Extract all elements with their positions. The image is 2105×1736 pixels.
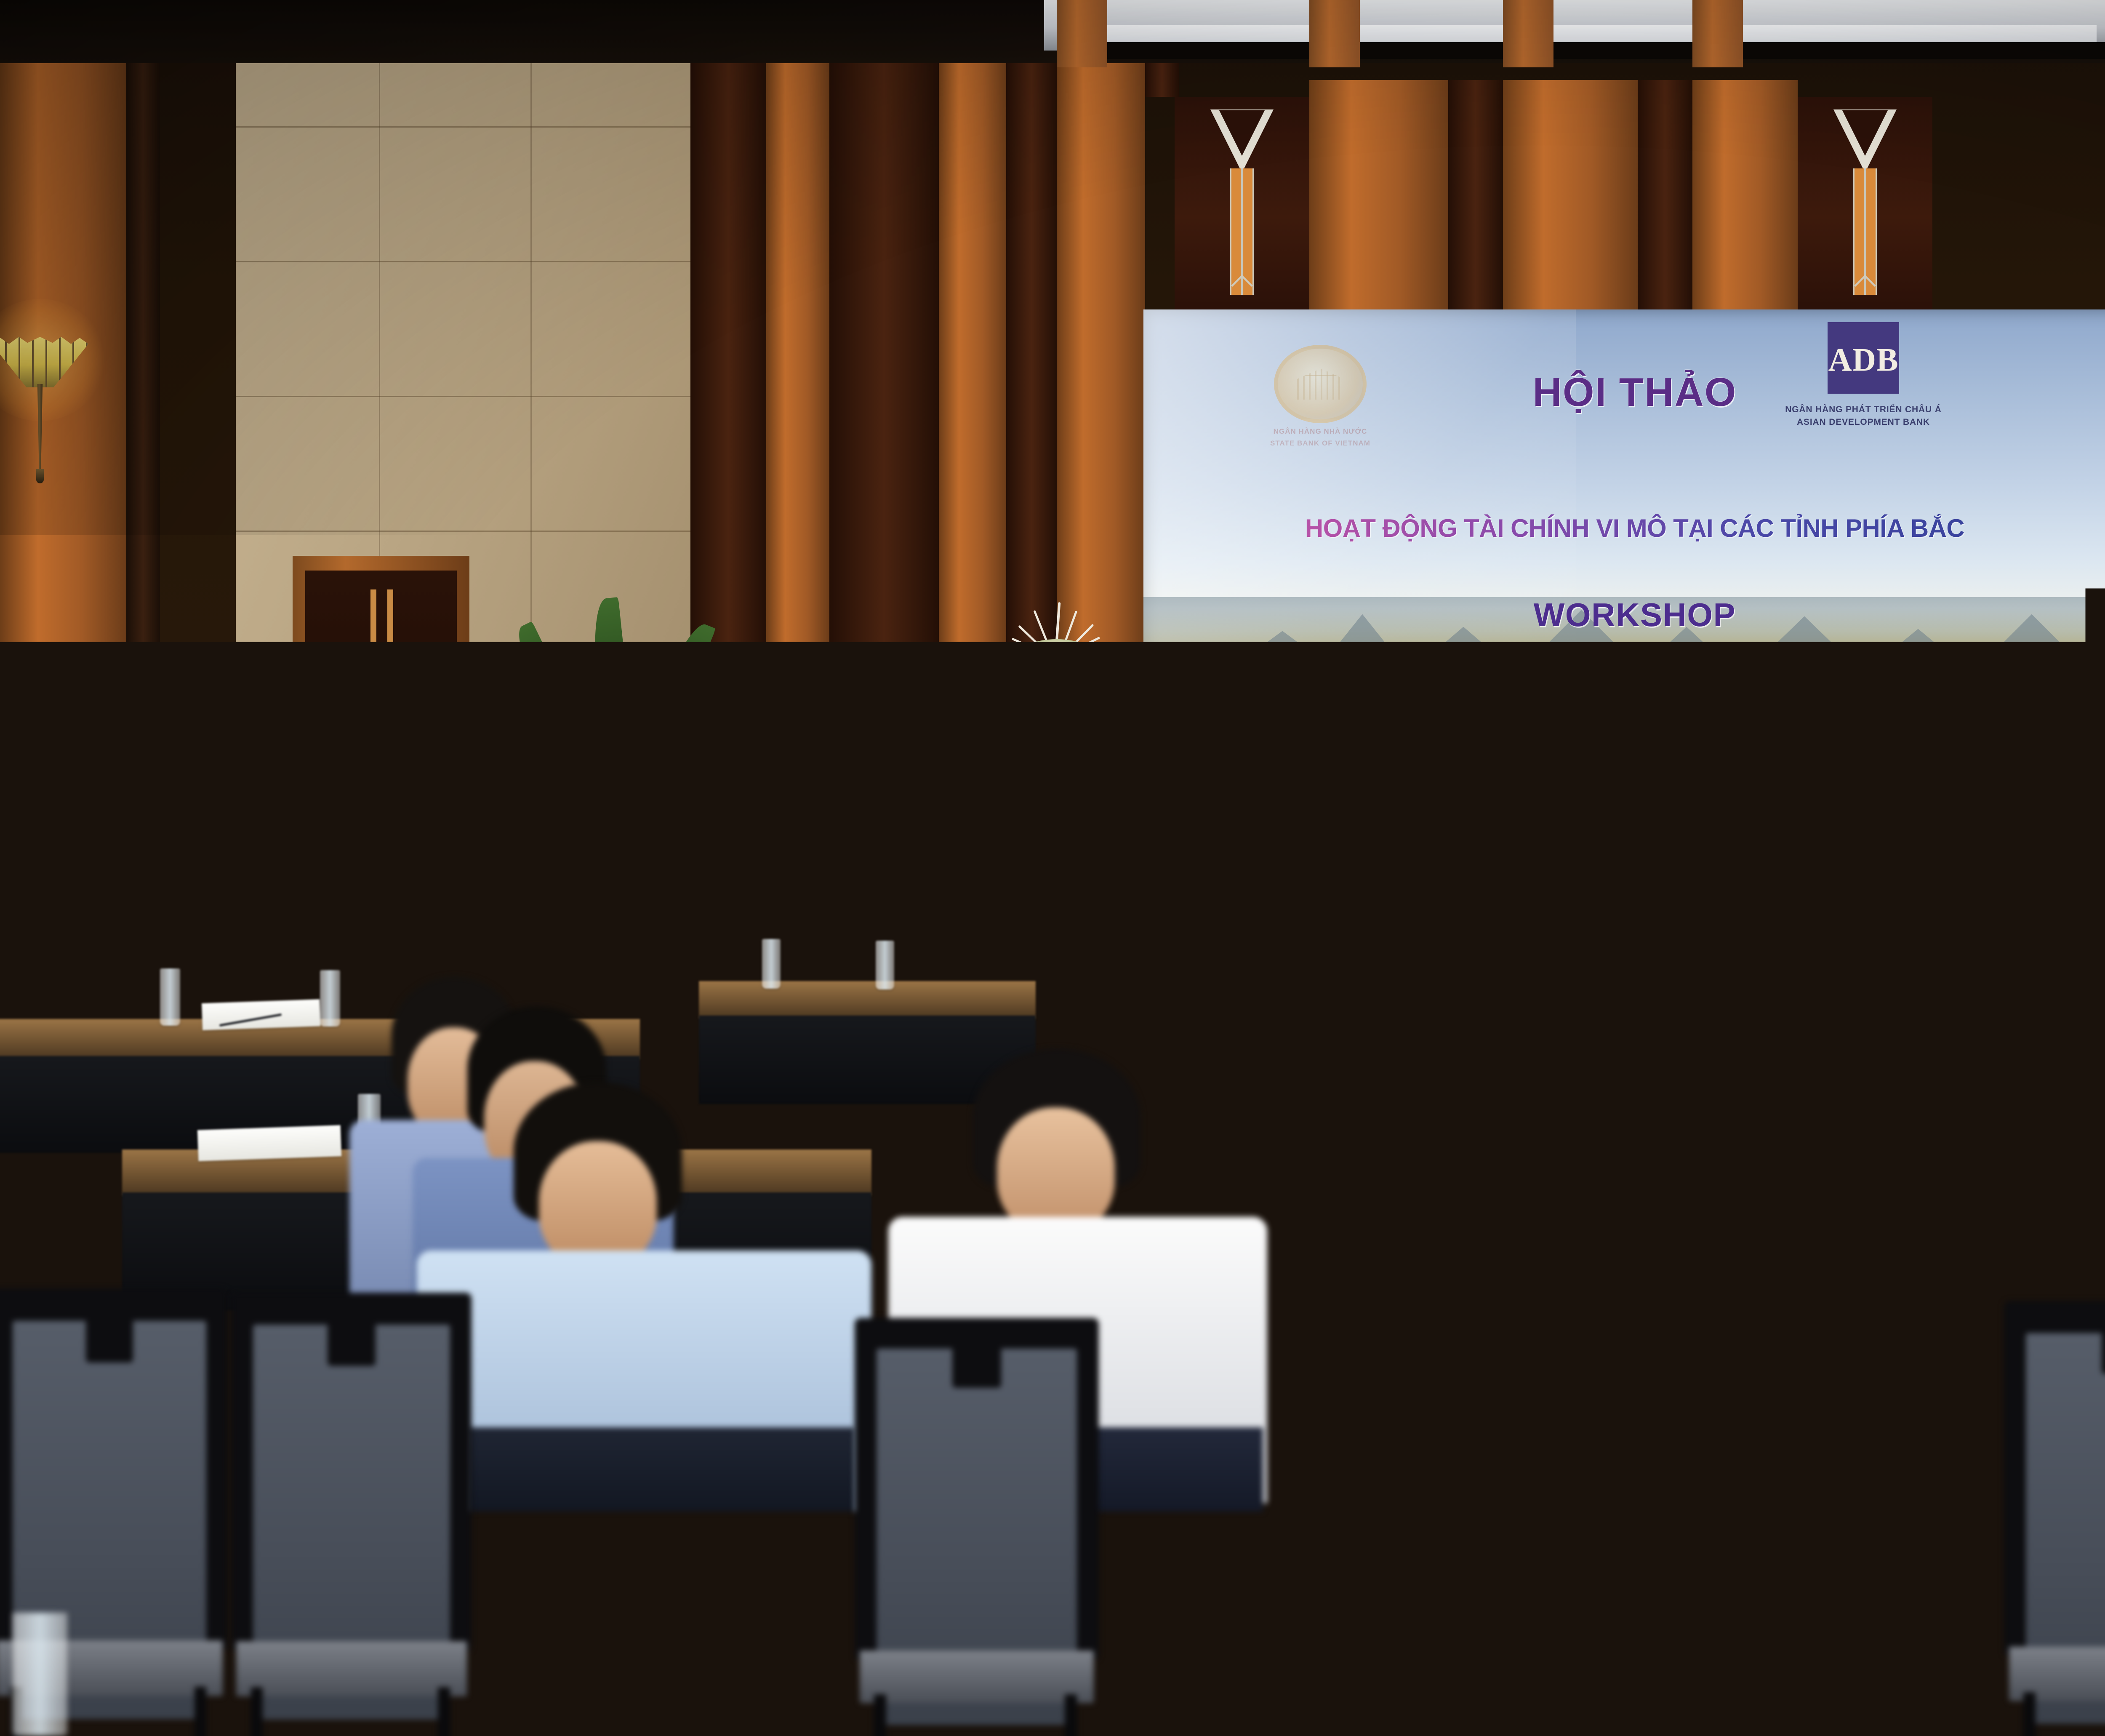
ceiling-shadow-band bbox=[1061, 42, 2105, 59]
eyeglasses-icon bbox=[554, 931, 593, 936]
banner-heading-vi: HỘI THẢO bbox=[1143, 369, 2105, 416]
flower-pedestal-left bbox=[1021, 602, 1092, 880]
pedestal-column-left bbox=[1033, 682, 1080, 863]
event-backdrop-banner: NGÂN HÀNG NHÀ NƯỚC STATE BANK OF VIETNAM… bbox=[1143, 309, 2105, 884]
wall-dark-band-2 bbox=[829, 0, 939, 947]
banner-date-line: Hà Nội, ngày 13 tháng 9 năm 2019 bbox=[1143, 783, 2105, 802]
wall-dark-reveal-left bbox=[126, 0, 160, 947]
art-deco-panel-left bbox=[1175, 97, 1309, 316]
water-glass-foreground bbox=[13, 1613, 67, 1736]
banner-subheading-en: MICROFINANCE ACTIVITIES IN THE NORTHERN … bbox=[1143, 665, 2105, 693]
wood-column-center bbox=[1503, 80, 1638, 316]
lectern: MELIÃ HANOI bbox=[1135, 735, 1245, 937]
art-deco-panel-right bbox=[1798, 97, 1932, 316]
venue-nameplate-text: MELIÃ HANOI bbox=[1145, 747, 1235, 757]
wall-sconce-left bbox=[0, 337, 88, 514]
wood-column-center-left bbox=[1309, 80, 1448, 316]
lectern-flower-arrangement bbox=[1123, 713, 1258, 745]
chair-front-5[interactable] bbox=[2004, 1301, 2105, 1736]
twig-spray-left bbox=[1034, 602, 1080, 644]
attendee-trousers bbox=[467, 1427, 855, 1512]
wood-column-2 bbox=[939, 0, 1006, 947]
sbv-label-en: STATE BANK OF VIETNAM bbox=[1257, 439, 1383, 448]
head-table-orchid-arrangement bbox=[1566, 925, 1705, 962]
ceiling-column-mid bbox=[1503, 0, 1553, 67]
speaker-eyeglasses bbox=[1173, 670, 1207, 677]
chair-front-3[interactable] bbox=[855, 1318, 1099, 1736]
wood-column-1 bbox=[766, 0, 829, 947]
chair-front-2[interactable] bbox=[232, 1293, 472, 1736]
wood-column-center-right bbox=[1692, 80, 1798, 316]
attendee-front-lightblue-shirt bbox=[417, 1082, 888, 1507]
chair-front-4[interactable] bbox=[1326, 1309, 1570, 1736]
audience-table-left-upper bbox=[699, 981, 1036, 1019]
banner-heading-en: WORKSHOP bbox=[1143, 596, 2105, 634]
pedestal-base-left bbox=[1025, 859, 1088, 873]
ceiling-column-mid-left bbox=[1309, 0, 1360, 67]
adb-label-en: ASIAN DEVELOPMENT BANK bbox=[1771, 417, 1956, 427]
venue-nameplate: MELIÃ HANOI bbox=[1142, 744, 1237, 760]
wall-dark-band-center bbox=[1448, 80, 1503, 316]
ceiling-column-left bbox=[1057, 0, 1107, 67]
wall-dark-band-center-2 bbox=[1638, 80, 1692, 316]
conference-hall-photograph: NGÂN HÀNG NHÀ NƯỚC STATE BANK OF VIETNAM… bbox=[0, 0, 2105, 1736]
ceiling-column-mid-right bbox=[1692, 0, 1743, 67]
banner-subheading-vi: HOẠT ĐỘNG TÀI CHÍNH VI MÔ TẠI CÁC TỈNH P… bbox=[1143, 514, 2105, 543]
stage-monitor-speaker bbox=[1259, 872, 1322, 943]
sbv-label-vi: NGÂN HÀNG NHÀ NƯỚC bbox=[1257, 427, 1383, 436]
sconce-tip-left bbox=[36, 469, 44, 483]
